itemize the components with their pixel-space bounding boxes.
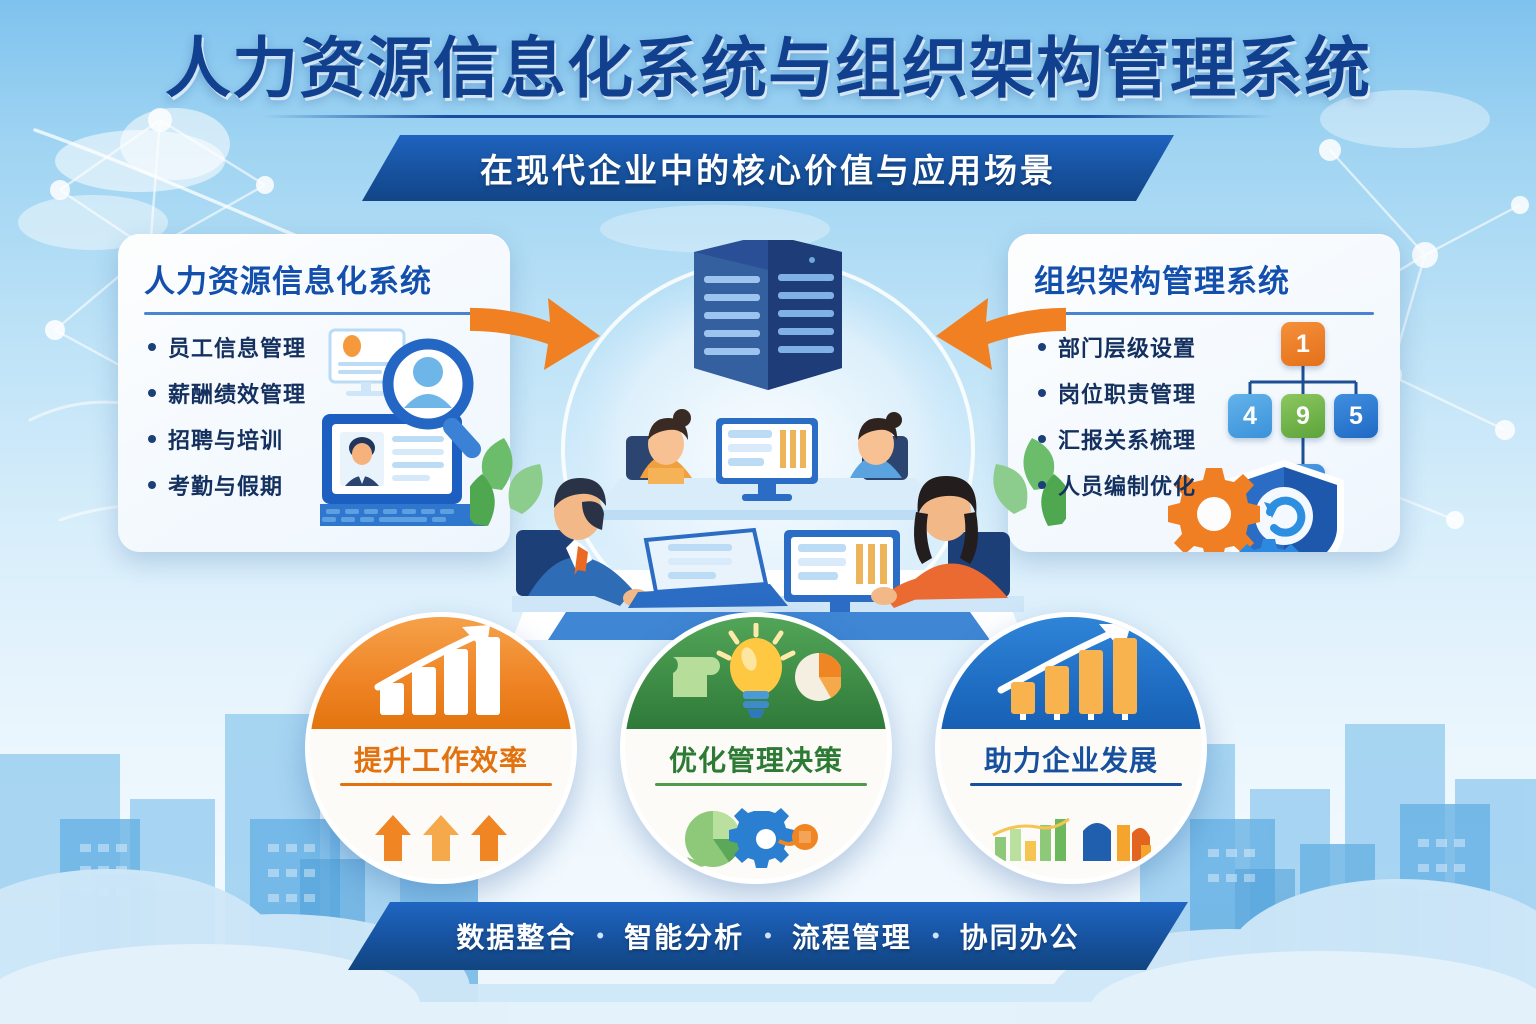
list-item-label: 岗位职责管理: [1058, 377, 1196, 409]
bar-chart-growth-arrow-icon: [366, 625, 516, 721]
benefit-title: 助力企业发展: [940, 739, 1202, 779]
list-item: 薪酬绩效管理: [148, 377, 363, 409]
left-card-divider: [144, 312, 484, 315]
subtitle-ribbon: 在现代企业中的核心价值与应用场景: [362, 135, 1174, 201]
org-node-child-3: 5: [1334, 394, 1378, 438]
list-item-label: 部门层级设置: [1058, 331, 1196, 363]
card-org-structure-system: 组织架构管理系统 部门层级设置 岗位职责管理 汇报关系梳理 人员编制优化: [1008, 234, 1400, 552]
right-card-divider: [1034, 312, 1374, 315]
left-card-bullet-list: 员工信息管理 薪酬绩效管理 招聘与培训 考勤与假期: [148, 331, 363, 501]
bullet-dot-icon: [148, 389, 156, 397]
benefit-bottom-art: [625, 797, 887, 879]
page-title: 人力资源信息化系统与组织架构管理系统: [0, 34, 1536, 103]
list-item: 汇报关系梳理: [1038, 423, 1253, 455]
pie-chart-gear-icon: [681, 807, 831, 869]
benefit-top-art: [310, 617, 572, 729]
right-card-bullet-list: 部门层级设置 岗位职责管理 汇报关系梳理 人员编制优化: [1038, 331, 1253, 501]
benefit-bottom-art: [310, 797, 572, 879]
benefit-circle-decision: 优化管理决策: [620, 612, 892, 884]
card-hr-information-system: 人力资源信息化系统 员工信息管理 薪酬绩效管理 招聘与培训 考勤与假期: [118, 234, 510, 552]
list-item: 部门层级设置: [1038, 331, 1253, 363]
lightbulb-puzzle-pie-icon: [671, 623, 841, 723]
benefit-circle-efficiency: 提升工作效率: [305, 612, 577, 884]
benefit-circle-growth: 助力企业发展: [935, 612, 1207, 884]
footer-item-label: 数据整合: [456, 916, 576, 956]
bullet-dot-icon: [1038, 481, 1046, 489]
org-node-child-2: 9: [1281, 394, 1325, 438]
benefit-bottom-art: [940, 797, 1202, 879]
footer-item-label: 智能分析: [624, 916, 744, 956]
footer-item-label: 流程管理: [792, 916, 912, 956]
list-item-label: 考勤与假期: [168, 469, 283, 501]
list-item: 岗位职责管理: [1038, 377, 1253, 409]
benefit-title: 优化管理决策: [625, 739, 887, 779]
bullet-dot-icon: [148, 481, 156, 489]
footer-separator: •: [596, 923, 604, 949]
infographic-poster: 人力资源信息化系统与组织架构管理系统 在现代企业中的核心价值与应用场景 人力资源…: [0, 0, 1536, 1024]
right-card-title: 组织架构管理系统: [1034, 256, 1374, 301]
list-item: 员工信息管理: [148, 331, 363, 363]
left-card-title: 人力资源信息化系统: [144, 256, 484, 301]
benefit-top-art: [625, 617, 887, 729]
footer-item-label: 协同办公: [960, 916, 1080, 956]
footer-item-list: 数据整合 • 智能分析 • 流程管理 • 协同办公: [456, 916, 1079, 956]
bullet-dot-icon: [1038, 389, 1046, 397]
bullet-dot-icon: [1038, 343, 1046, 351]
title-divider: [263, 115, 1273, 118]
benefit-top-art: [940, 617, 1202, 729]
benefit-title: 提升工作效率: [310, 739, 572, 779]
list-item-label: 招聘与培训: [168, 423, 283, 455]
list-item: 人员编制优化: [1038, 469, 1253, 501]
list-item-label: 人员编制优化: [1058, 469, 1196, 501]
cloud-decoration: [55, 130, 225, 192]
subtitle-text: 在现代企业中的核心价值与应用场景: [480, 144, 1056, 192]
footer-banner: 数据整合 • 智能分析 • 流程管理 • 协同办公: [348, 902, 1188, 970]
mixed-charts-icon: [991, 809, 1151, 867]
benefit-divider: [340, 783, 552, 786]
list-item-label: 薪酬绩效管理: [168, 377, 306, 409]
bullet-dot-icon: [148, 435, 156, 443]
benefit-divider: [655, 783, 867, 786]
list-item-label: 汇报关系梳理: [1058, 423, 1196, 455]
bullet-dot-icon: [148, 343, 156, 351]
server-team-collaboration-illustration: [470, 240, 1066, 640]
org-node-root: 1: [1281, 322, 1325, 366]
list-item: 招聘与培训: [148, 423, 363, 455]
benefit-divider: [970, 783, 1182, 786]
list-item: 考勤与假期: [148, 469, 363, 501]
list-item-label: 员工信息管理: [168, 331, 306, 363]
server-rack-icon: [694, 240, 842, 390]
poster-header: 人力资源信息化系统与组织架构管理系统: [0, 34, 1536, 118]
footer-separator: •: [764, 923, 772, 949]
cloud-decoration: [120, 108, 230, 180]
plant-left-decoration: [470, 438, 543, 526]
footer-separator: •: [932, 923, 940, 949]
bullet-dot-icon: [1038, 435, 1046, 443]
three-up-arrows-icon: [371, 809, 511, 867]
bar-chart-arrow-icon: [991, 624, 1151, 722]
